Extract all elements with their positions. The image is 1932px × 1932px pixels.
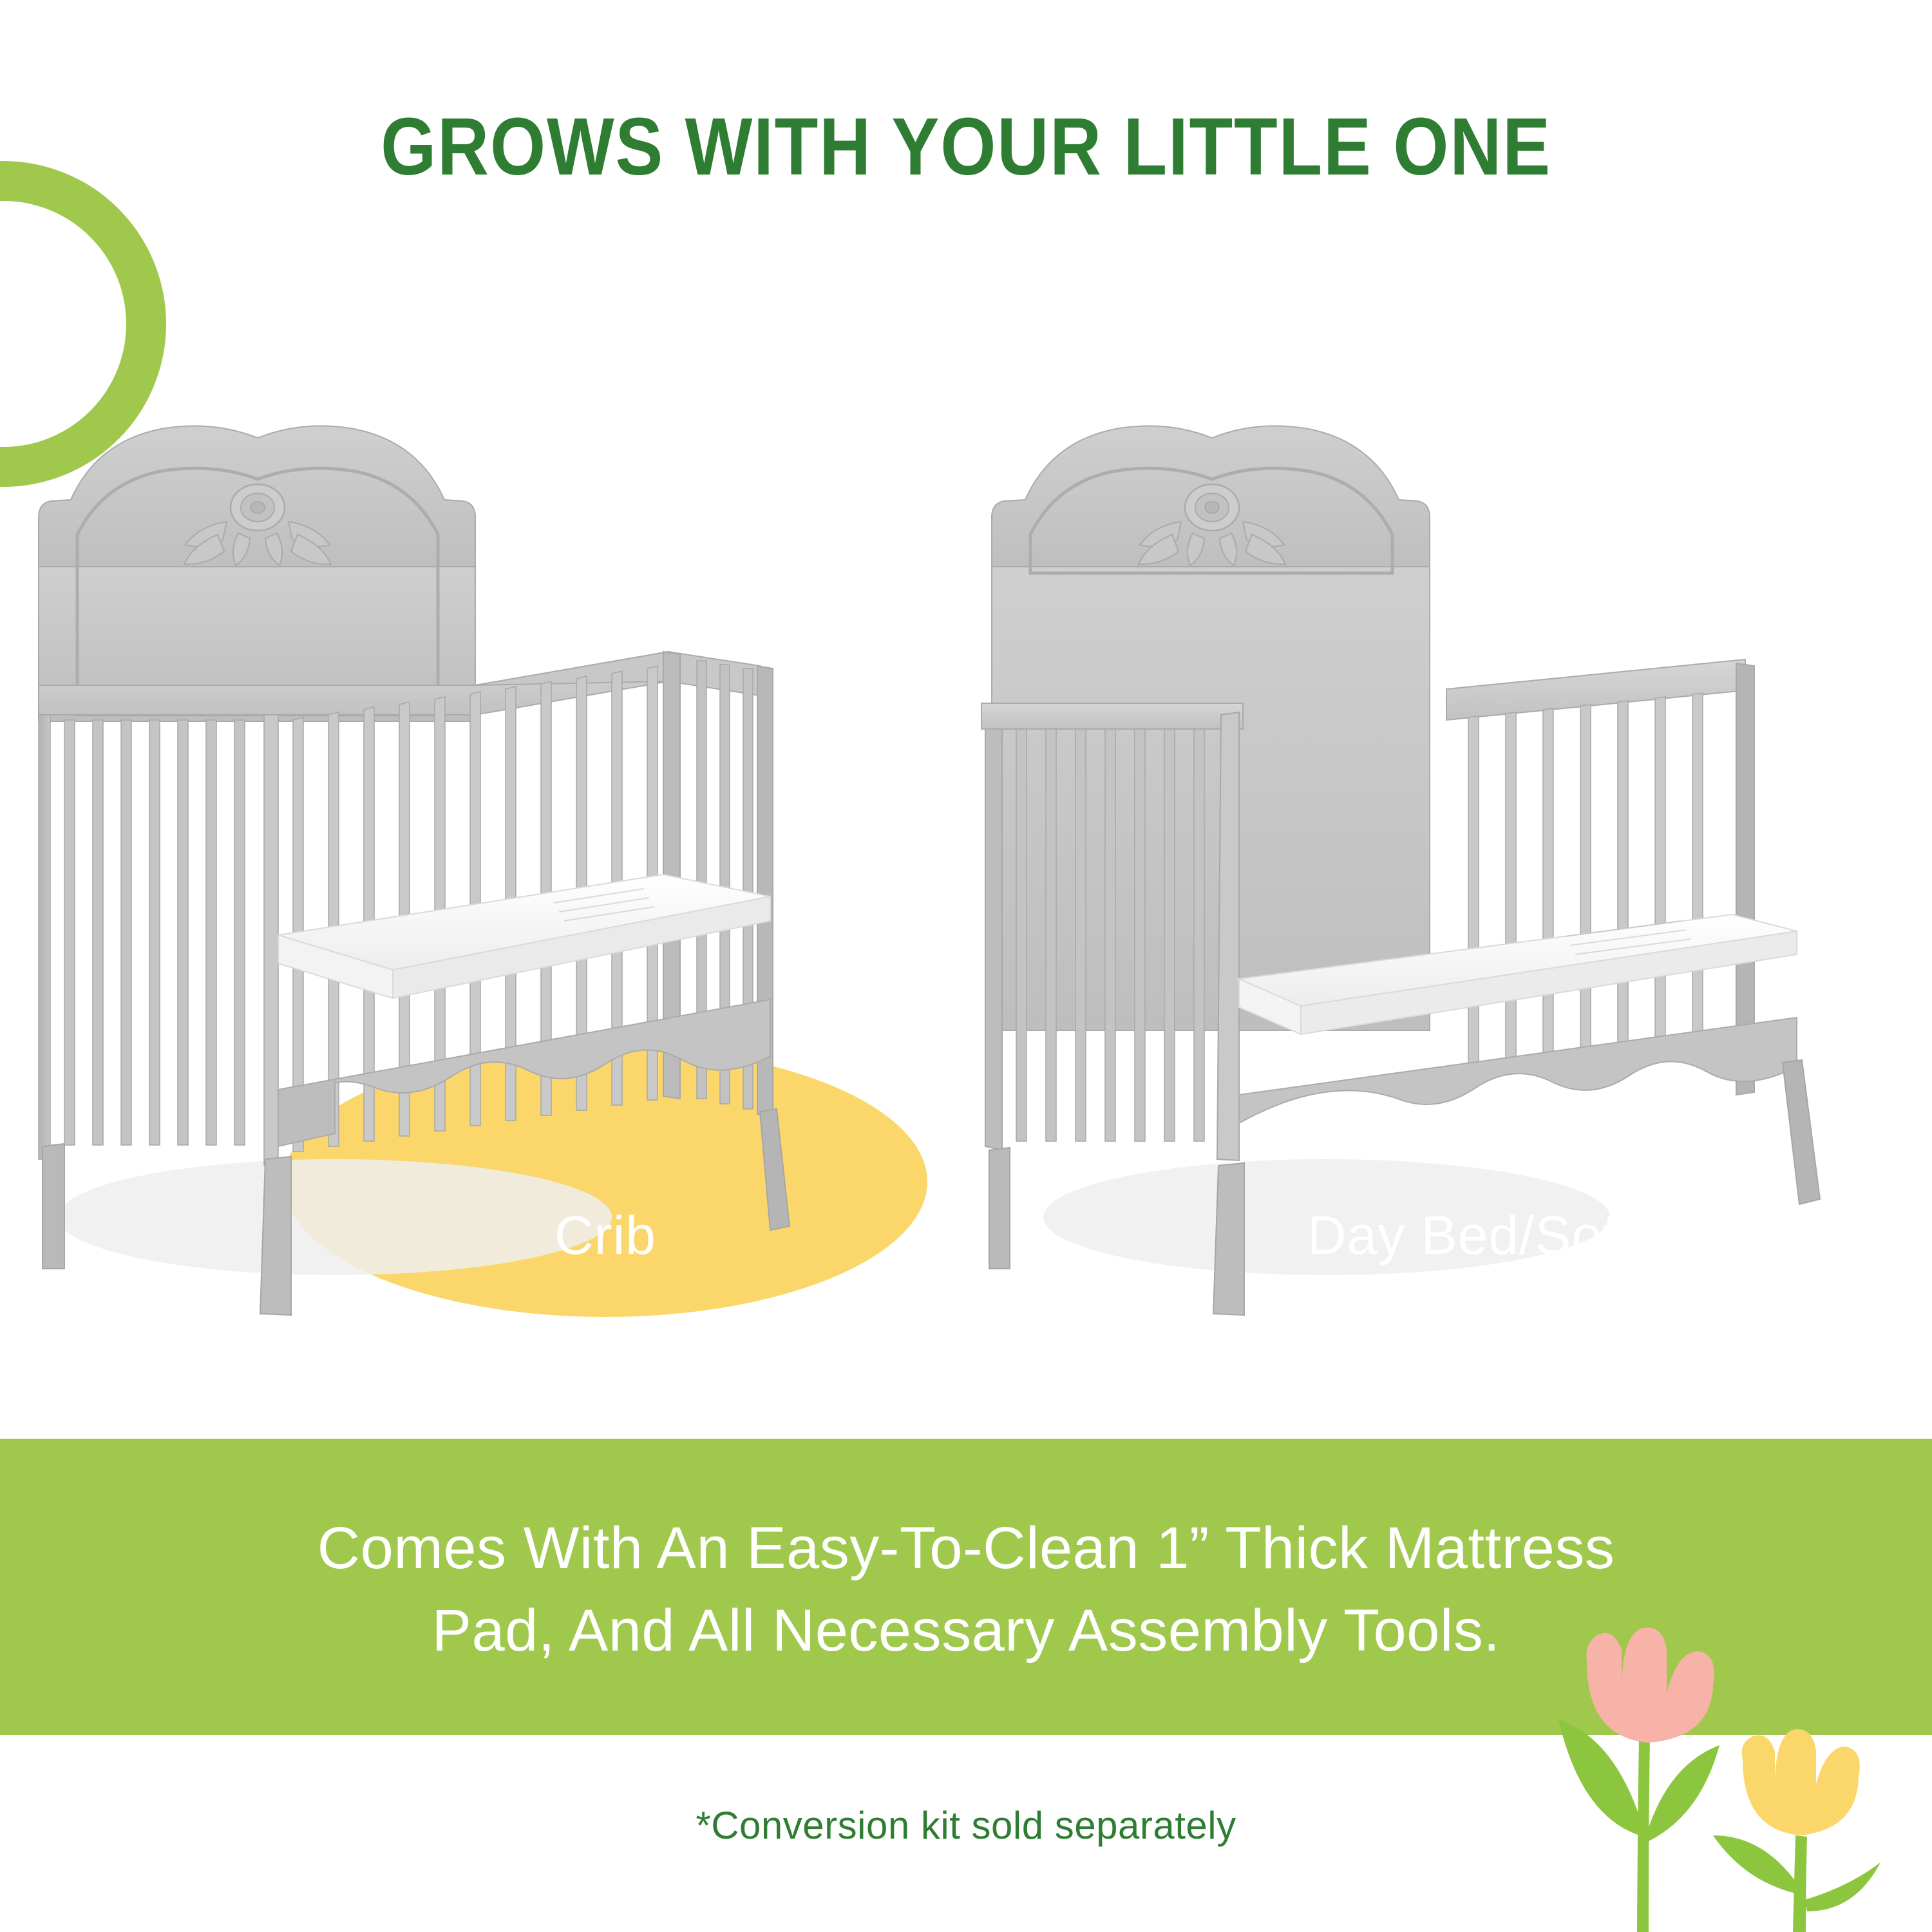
label-crib: Crib [283,1204,927,1267]
crib-leg [43,1144,64,1269]
daybed-leg [989,1148,1010,1269]
daybed-skirt-scallop [1239,1018,1797,1123]
leaf [1804,1862,1880,1911]
page-title: GROWS WITH YOUR LITTLE ONE [116,100,1816,193]
tulip-decoration [1520,1623,1932,1932]
label-daybed: Day Bed/Sofa [1156,1204,1800,1267]
crib-front-slats [39,715,278,1166]
pink-tulip-bloom [1586,1627,1714,1743]
crib-skirt-scallop [278,999,770,1118]
yellow-tulip-bloom [1742,1729,1860,1835]
leaf [1713,1835,1799,1893]
leaf [1646,1745,1719,1842]
banner-line-1: Comes With An Easy-To-Clean 1” Thick Mat… [0,1507,1932,1589]
daybed-leg [1783,1060,1820,1204]
